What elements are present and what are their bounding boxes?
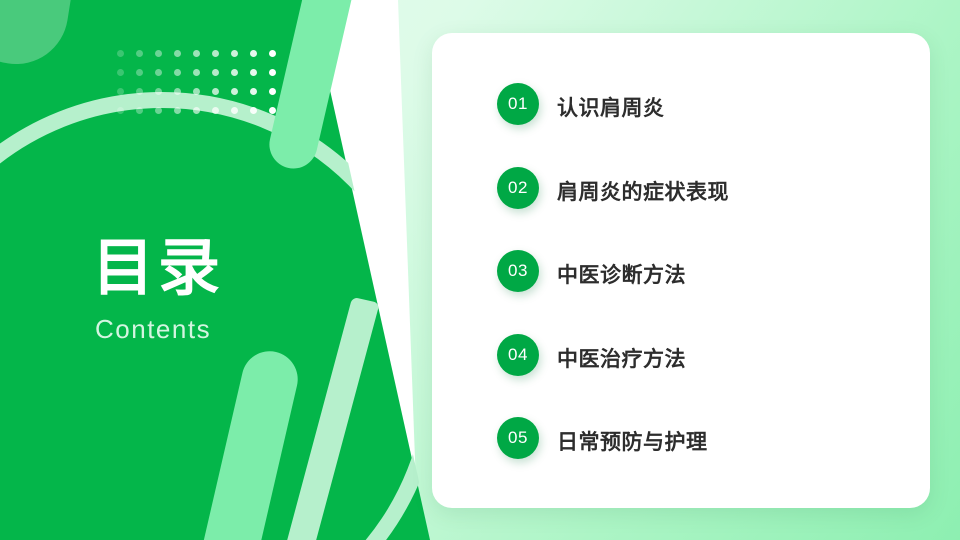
dot-grid-dot <box>136 50 143 57</box>
dot-grid-dot <box>117 88 124 95</box>
dot-grid-dot <box>117 107 124 114</box>
dot-grid-dot <box>193 69 200 76</box>
dot-grid-dot <box>155 107 162 114</box>
toc-item[interactable]: 03中医诊断方法 <box>497 250 917 334</box>
dot-grid-dot <box>250 69 257 76</box>
dot-grid-dot <box>212 50 219 57</box>
page-title: 目录 <box>92 238 224 300</box>
toc-item-number-badge[interactable]: 02 <box>497 167 539 209</box>
toc-item-number-badge[interactable]: 01 <box>497 83 539 125</box>
dot-grid-dot <box>250 88 257 95</box>
toc-item[interactable]: 01认识肩周炎 <box>497 83 917 167</box>
dot-grid-dot <box>155 69 162 76</box>
toc-item[interactable]: 02肩周炎的症状表现 <box>497 167 917 251</box>
dot-grid-dot <box>212 107 219 114</box>
dot-grid-dot <box>231 69 238 76</box>
dot-grid-dot <box>269 69 276 76</box>
toc-list: 01认识肩周炎02肩周炎的症状表现03中医诊断方法04中医治疗方法05日常预防与… <box>497 83 917 501</box>
dot-grid-dot <box>193 50 200 57</box>
dot-grid-dot <box>193 88 200 95</box>
dot-grid-dot <box>136 107 143 114</box>
toc-item[interactable]: 04中医治疗方法 <box>497 334 917 418</box>
dot-grid-dot <box>231 88 238 95</box>
decorative-dot-grid <box>117 50 288 126</box>
dot-grid-dot <box>212 69 219 76</box>
dot-grid-dot <box>174 88 181 95</box>
toc-item-number-badge[interactable]: 03 <box>497 250 539 292</box>
toc-item-label[interactable]: 中医治疗方法 <box>557 343 686 373</box>
dot-grid-dot <box>231 50 238 57</box>
slide-root: 目录 Contents 01认识肩周炎02肩周炎的症状表现03中医诊断方法04中… <box>0 0 960 540</box>
dot-grid-dot <box>174 69 181 76</box>
toc-item[interactable]: 05日常预防与护理 <box>497 417 917 501</box>
dot-grid-dot <box>269 107 276 114</box>
dot-grid-dot <box>193 107 200 114</box>
toc-item-number-badge[interactable]: 05 <box>497 417 539 459</box>
dot-grid-dot <box>250 50 257 57</box>
toc-item-label[interactable]: 日常预防与护理 <box>557 426 708 456</box>
dot-grid-dot <box>136 88 143 95</box>
dot-grid-dot <box>174 107 181 114</box>
toc-item-number-badge[interactable]: 04 <box>497 334 539 376</box>
dot-grid-dot <box>231 107 238 114</box>
dot-grid-dot <box>212 88 219 95</box>
dot-grid-dot <box>269 50 276 57</box>
dot-grid-dot <box>174 50 181 57</box>
dot-grid-dot <box>117 50 124 57</box>
toc-item-label[interactable]: 认识肩周炎 <box>557 92 665 122</box>
dot-grid-dot <box>136 69 143 76</box>
dot-grid-dot <box>250 107 257 114</box>
toc-item-label[interactable]: 肩周炎的症状表现 <box>557 176 729 206</box>
dot-grid-dot <box>269 88 276 95</box>
page-subtitle: Contents <box>95 316 211 342</box>
dot-grid-dot <box>155 50 162 57</box>
decorative-blob-top-left <box>0 0 79 72</box>
dot-grid-dot <box>155 88 162 95</box>
dot-grid-dot <box>117 69 124 76</box>
toc-item-label[interactable]: 中医诊断方法 <box>557 259 686 289</box>
